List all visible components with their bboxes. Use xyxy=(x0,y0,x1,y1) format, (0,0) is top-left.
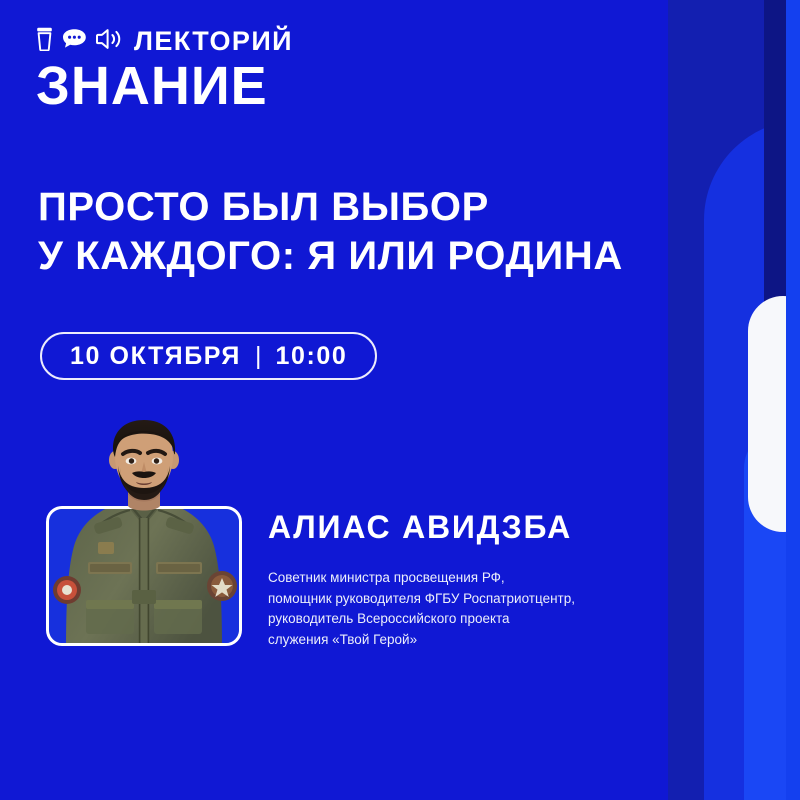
event-date: 10 ОКТЯБРЯ xyxy=(70,344,241,369)
event-poster: ЛЕКТОРИЙ ЗНАНИЕ ПРОСТО БЫЛ ВЫБОР У КАЖДО… xyxy=(0,0,800,800)
logo-brand-text: ЗНАНИЕ xyxy=(36,59,456,113)
speaker-role-line-1: Советник министра просвещения РФ, xyxy=(268,568,618,589)
logo-top-row: ЛЕКТОРИЙ xyxy=(36,26,456,56)
chat-bubble-icon xyxy=(62,28,87,54)
speaker-role-line-2: помощник руководителя ФГБУ Роспатриотцен… xyxy=(268,589,618,610)
event-time: 10:00 xyxy=(275,344,347,369)
brand-logo: ЛЕКТОРИЙ ЗНАНИЕ xyxy=(36,26,456,113)
speaker-role-line-4: служения «Твой Герой» xyxy=(268,630,618,651)
headline-line-1: ПРОСТО БЫЛ ВЫБОР xyxy=(38,183,698,232)
speaker-role-line-3: руководитель Всероссийского проекта xyxy=(268,609,618,630)
speaker-head xyxy=(109,420,179,511)
cup-icon xyxy=(36,27,53,56)
speaker-photo xyxy=(46,414,242,646)
speaker-photo-container xyxy=(46,414,242,646)
speaker-name: АЛИАС АВИДЗБА xyxy=(268,511,572,543)
speaker-role: Советник министра просвещения РФ, помощн… xyxy=(268,568,618,650)
headline-line-2: У КАЖДОГО: Я ИЛИ РОДИНА xyxy=(38,232,698,281)
headline: ПРОСТО БЫЛ ВЫБОР У КАЖДОГО: Я ИЛИ РОДИНА xyxy=(38,183,698,281)
date-time-badge: 10 ОКТЯБРЯ | 10:00 xyxy=(40,332,377,380)
decorative-bright-edge xyxy=(786,0,800,800)
date-time-separator: | xyxy=(255,344,262,369)
logo-lectory-text: ЛЕКТОРИЙ xyxy=(134,28,293,55)
speaker-icon xyxy=(96,28,123,55)
